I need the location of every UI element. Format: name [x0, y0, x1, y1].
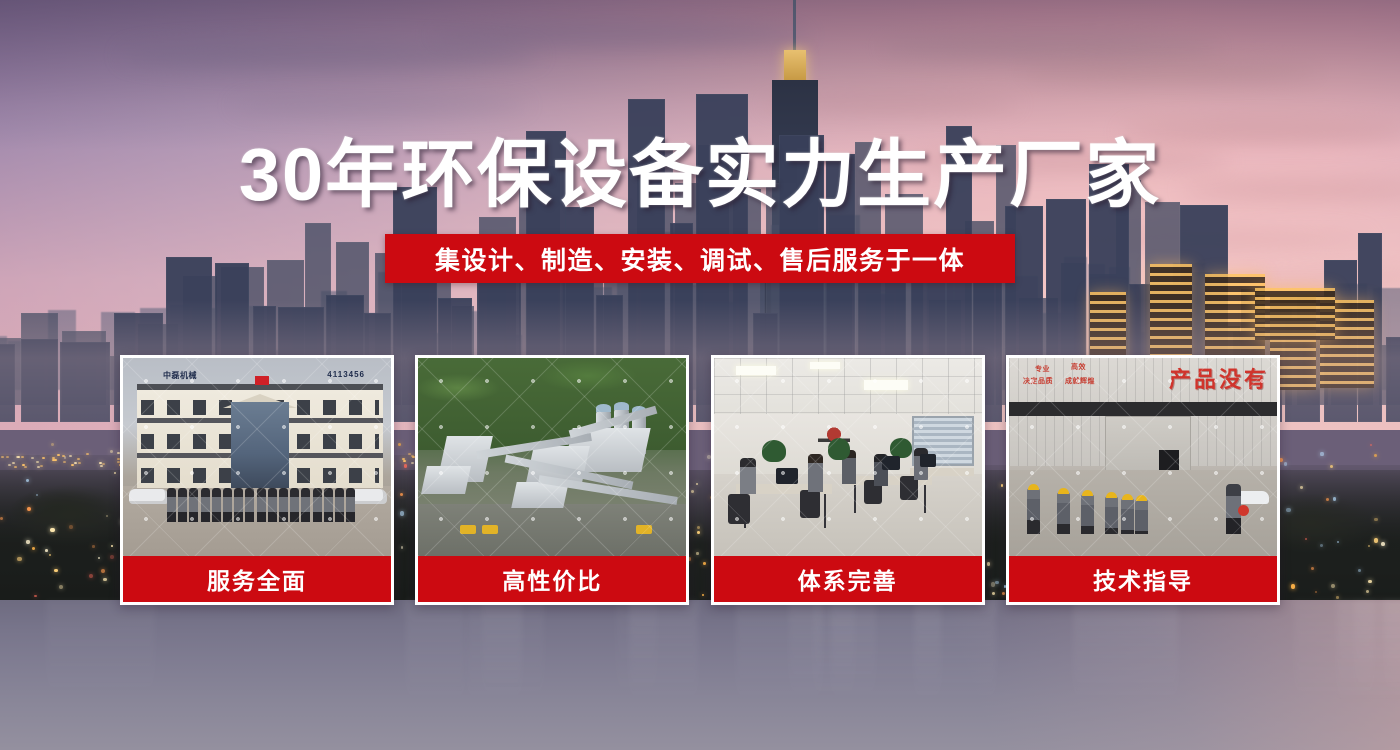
photo-facade-band — [1009, 402, 1277, 416]
photo-person — [245, 488, 254, 522]
feature-card[interactable]: 产品没有 专业 高效 决定品质 成就辉煌 技术指导 — [1006, 355, 1280, 605]
photo-excavator — [460, 525, 476, 534]
photo-person — [223, 488, 232, 522]
photo-plant — [890, 438, 912, 458]
photo-desk-leg — [854, 485, 856, 513]
card-label: 体系完善 — [714, 556, 982, 602]
photo-person — [212, 488, 221, 522]
card-photo-office — [714, 358, 982, 556]
illuminated-building — [1255, 288, 1335, 340]
water-reflection — [1073, 600, 1178, 750]
card-photo-plant-aerial — [418, 358, 686, 556]
feature-card-list: 中磊机械 4113456 服务全面 — [120, 355, 1280, 605]
photo-person — [201, 488, 210, 522]
tower-spire-needle — [793, 0, 796, 52]
card-label: 技术指导 — [1009, 556, 1277, 602]
water-reflection — [406, 600, 466, 750]
skyline-building — [1386, 337, 1400, 422]
photo-worker — [1105, 496, 1118, 534]
photo-silo-cap — [596, 404, 611, 412]
photo-person — [234, 488, 243, 522]
photo-person — [167, 488, 176, 522]
photo-wall-slogan: 产品没有 — [1169, 362, 1269, 394]
photo-wall-slogan-small: 高效 — [1071, 362, 1086, 372]
photo-monitor — [776, 468, 798, 484]
photo-desk-leg — [924, 485, 926, 513]
photo-person — [189, 488, 198, 522]
photo-monitor — [920, 454, 936, 467]
card-label: 高性价比 — [418, 556, 686, 602]
photo-company-sign: 中磊机械 — [163, 370, 197, 381]
photo-person — [346, 488, 355, 522]
subtitle-text: 集设计、制造、安装、调试、售后服务于一体 — [435, 241, 965, 277]
photo-plant — [828, 438, 850, 460]
photo-hard-hat — [1136, 495, 1147, 501]
photo-car — [129, 489, 169, 504]
photo-wall-slogan-small: 专业 — [1035, 364, 1050, 374]
photo-hard-hat — [1028, 484, 1039, 490]
river-water — [0, 600, 1400, 750]
photo-person — [335, 488, 344, 522]
water-reflection — [467, 600, 523, 750]
photo-chair — [800, 490, 820, 518]
skyline-building — [60, 342, 110, 422]
photo-person — [740, 458, 756, 494]
photo-flag — [255, 376, 269, 385]
water-reflection — [1294, 600, 1374, 750]
water-reflection — [1384, 600, 1400, 750]
photo-chair — [728, 494, 750, 524]
page-title: 30年环保设备实力生产厂家 — [0, 134, 1400, 216]
water-reflection — [914, 600, 996, 750]
photo-worker — [1027, 488, 1040, 534]
photo-shed — [421, 466, 471, 494]
photo-person — [808, 454, 823, 492]
promo-banner: 30年环保设备实力生产厂家 集设计、制造、安装、调试、售后服务于一体 中磊机械 … — [0, 0, 1400, 750]
photo-ceiling-light — [810, 362, 840, 369]
feature-card[interactable]: 中磊机械 4113456 服务全面 — [120, 355, 394, 605]
card-photo-headquarters: 中磊机械 4113456 — [123, 358, 391, 556]
subtitle-banner: 集设计、制造、安装、调试、售后服务于一体 — [385, 234, 1015, 283]
photo-worker — [1081, 494, 1094, 534]
feature-card[interactable]: 体系完善 — [711, 355, 985, 605]
photo-person — [257, 488, 266, 522]
photo-person — [324, 488, 333, 522]
water-reflection — [46, 600, 154, 750]
photo-person — [178, 488, 187, 522]
photo-person — [313, 488, 322, 522]
photo-hard-hat — [1058, 488, 1069, 494]
feature-card[interactable]: 高性价比 — [415, 355, 689, 605]
photo-hard-hat — [1106, 492, 1117, 498]
photo-worker — [1135, 499, 1148, 534]
photo-silo-cap — [614, 402, 629, 410]
water-reflection — [616, 600, 657, 750]
photo-ceiling-light — [864, 380, 908, 390]
photo-person — [279, 488, 288, 522]
water-reflection — [736, 600, 822, 750]
card-label: 服务全面 — [123, 556, 391, 602]
photo-entrance — [231, 402, 289, 488]
photo-phone-number: 4113456 — [327, 370, 365, 379]
photo-monitor — [882, 456, 900, 470]
photo-hard-hat — [1122, 494, 1133, 500]
photo-worker — [1121, 498, 1134, 534]
photo-worker — [1057, 492, 1070, 534]
photo-desk-leg — [824, 494, 826, 528]
card-photo-workers: 产品没有 专业 高效 决定品质 成就辉煌 — [1009, 358, 1277, 556]
skyline-building — [21, 339, 58, 422]
photo-ceiling-light — [736, 366, 776, 375]
photo-person — [290, 488, 299, 522]
photo-red-helmet — [1238, 505, 1249, 516]
photo-wall-slogan-small: 决定品质 — [1023, 376, 1053, 386]
photo-excavator — [636, 525, 652, 534]
photo-wall-slogan-small: 成就辉煌 — [1065, 376, 1095, 386]
photo-person — [301, 488, 310, 522]
skyline-building — [0, 344, 15, 422]
photo-plant — [762, 440, 786, 462]
photo-excavator — [482, 525, 498, 534]
photo-hard-hat — [1082, 490, 1093, 496]
photo-person — [268, 488, 277, 522]
